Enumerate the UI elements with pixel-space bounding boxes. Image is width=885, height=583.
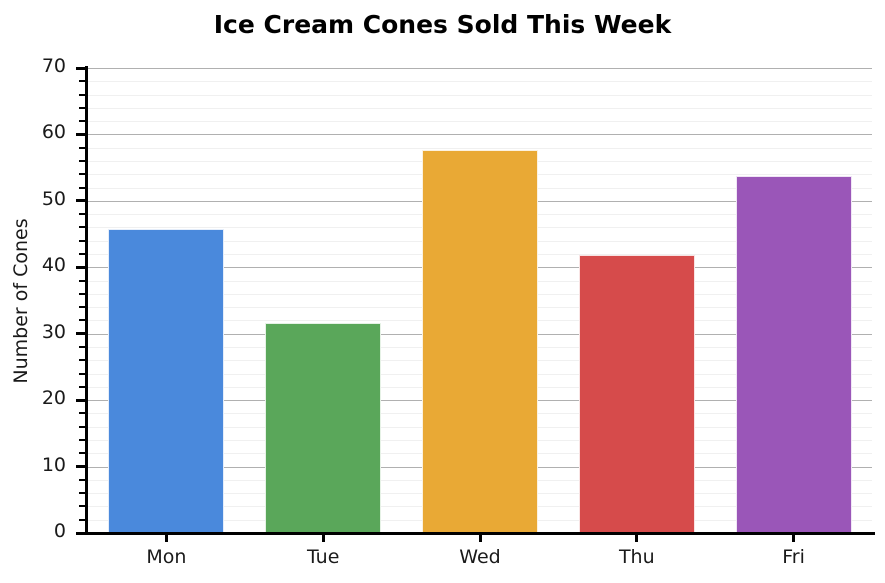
y-tick-minor bbox=[79, 80, 85, 82]
y-tick-label: 20 bbox=[6, 387, 66, 409]
gridline-minor bbox=[88, 148, 872, 149]
y-tick-minor bbox=[79, 373, 85, 375]
y-tick-label: 0 bbox=[6, 520, 66, 542]
y-tick-major bbox=[76, 332, 85, 335]
y-tick-label: 10 bbox=[6, 454, 66, 476]
x-tick-mon bbox=[165, 533, 168, 542]
y-tick-minor bbox=[79, 426, 85, 428]
y-tick-label: 70 bbox=[6, 55, 66, 77]
y-tick-major bbox=[76, 266, 85, 269]
y-tick-minor bbox=[79, 253, 85, 255]
y-tick-minor bbox=[79, 107, 85, 109]
y-tick-minor bbox=[79, 213, 85, 215]
x-tick-label-thu: Thu bbox=[577, 546, 697, 568]
bar-chart-figure: Ice Cream Cones Sold This Week Number of… bbox=[0, 0, 885, 583]
y-tick-minor bbox=[79, 173, 85, 175]
y-tick-minor bbox=[79, 293, 85, 295]
y-tick-label: 50 bbox=[6, 188, 66, 210]
x-tick-wed bbox=[479, 533, 482, 542]
x-tick-label-wed: Wed bbox=[420, 546, 540, 568]
bar-thu[interactable] bbox=[579, 255, 695, 533]
x-tick-label-tue: Tue bbox=[263, 546, 383, 568]
y-tick-label: 60 bbox=[6, 121, 66, 143]
x-tick-label-mon: Mon bbox=[106, 546, 226, 568]
y-tick-minor bbox=[79, 479, 85, 481]
y-tick-minor bbox=[79, 505, 85, 507]
page-title: Ice Cream Cones Sold This Week bbox=[0, 10, 885, 39]
x-tick-fri bbox=[792, 533, 795, 542]
y-tick-minor bbox=[79, 280, 85, 282]
y-tick-minor bbox=[79, 346, 85, 348]
y-tick-minor bbox=[79, 386, 85, 388]
gridline-minor bbox=[88, 95, 872, 96]
y-tick-major bbox=[76, 532, 85, 535]
y-tick-minor bbox=[79, 94, 85, 96]
gridline-major bbox=[88, 134, 872, 135]
gridline-major bbox=[88, 68, 872, 69]
x-tick-tue bbox=[322, 533, 325, 542]
y-tick-minor bbox=[79, 359, 85, 361]
y-tick-major bbox=[76, 199, 85, 202]
x-tick-label-fri: Fri bbox=[734, 546, 854, 568]
y-tick-major bbox=[76, 399, 85, 402]
y-tick-major bbox=[76, 133, 85, 136]
y-tick-minor bbox=[79, 187, 85, 189]
y-tick-minor bbox=[79, 240, 85, 242]
y-tick-label: 30 bbox=[6, 321, 66, 343]
y-tick-minor bbox=[79, 492, 85, 494]
gridline-minor bbox=[88, 81, 872, 82]
y-tick-label: 40 bbox=[6, 254, 66, 276]
gridline-minor bbox=[88, 121, 872, 122]
y-tick-minor bbox=[79, 160, 85, 162]
y-tick-minor bbox=[79, 519, 85, 521]
y-tick-minor bbox=[79, 319, 85, 321]
bar-tue[interactable] bbox=[265, 323, 381, 533]
y-tick-minor bbox=[79, 226, 85, 228]
plot-area bbox=[88, 68, 872, 533]
y-tick-minor bbox=[79, 412, 85, 414]
y-tick-minor bbox=[79, 439, 85, 441]
y-tick-major bbox=[76, 465, 85, 468]
bar-wed[interactable] bbox=[422, 150, 538, 533]
x-tick-thu bbox=[635, 533, 638, 542]
y-tick-minor bbox=[79, 306, 85, 308]
y-tick-minor bbox=[79, 147, 85, 149]
y-axis-label: Number of Cones bbox=[10, 181, 32, 421]
y-tick-minor bbox=[79, 120, 85, 122]
y-axis-spine bbox=[85, 66, 88, 535]
bar-mon[interactable] bbox=[108, 229, 224, 533]
y-tick-minor bbox=[79, 452, 85, 454]
bar-fri[interactable] bbox=[736, 176, 852, 533]
gridline-minor bbox=[88, 108, 872, 109]
y-tick-major bbox=[76, 67, 85, 70]
